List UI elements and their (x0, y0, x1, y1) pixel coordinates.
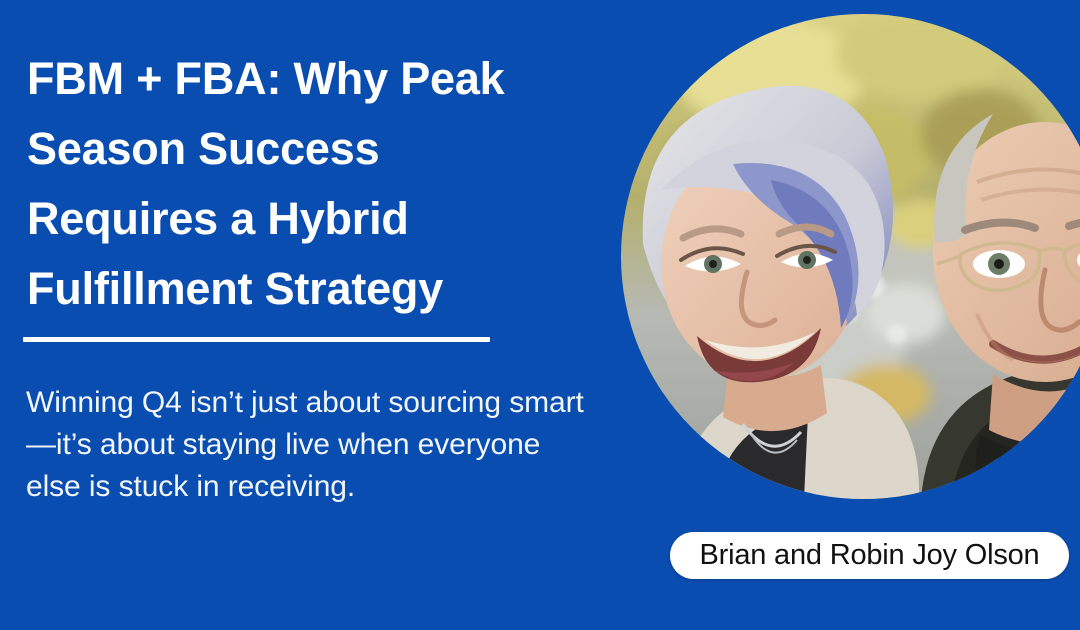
speaker-name-label: Brian and Robin Joy Olson (700, 541, 1040, 570)
promo-slide: FBM + FBA: Why Peak Season Success Requi… (0, 0, 1080, 630)
page-title: FBM + FBA: Why Peak Season Success Requi… (27, 44, 572, 324)
speaker-portrait (621, 14, 1080, 499)
portrait-illustration (621, 14, 1080, 499)
speaker-name-badge: Brian and Robin Joy Olson (670, 532, 1069, 579)
title-divider (23, 337, 490, 342)
subtitle-text: Winning Q4 isn’t just about sourcing sma… (26, 382, 586, 508)
man-figure (921, 114, 1080, 499)
